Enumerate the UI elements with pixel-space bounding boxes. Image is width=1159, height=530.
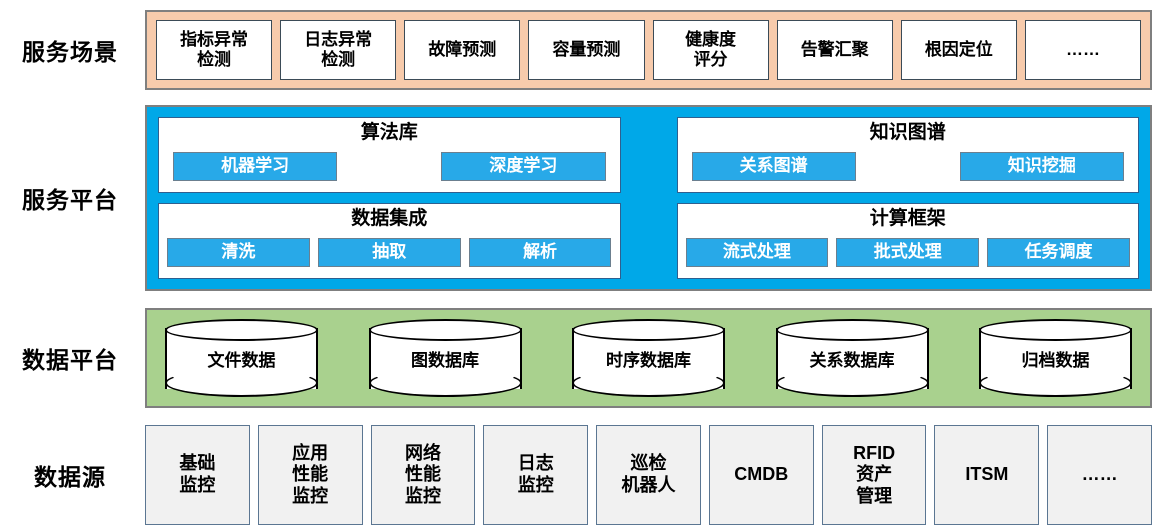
- scenario-box[interactable]: 故障预测: [404, 20, 520, 80]
- scenario-box[interactable]: 日志异常 检测: [280, 20, 396, 80]
- scenario-box-list: 指标异常 检测 日志异常 检测 故障预测 容量预测 健康度 评分 告警汇聚 根因…: [147, 12, 1150, 88]
- architecture-diagram: 服务场景 指标异常 检测 日志异常 检测 故障预测 容量预测 健康度 评分 告警…: [0, 0, 1159, 530]
- datastore-cylinder[interactable]: 文件数据: [165, 319, 318, 397]
- datastore-cylinder[interactable]: 时序数据库: [572, 319, 725, 397]
- datastore-list: 文件数据 图数据库 时序数据库 关系数据库: [147, 310, 1150, 406]
- source-box-itsm[interactable]: ITSM: [934, 425, 1039, 525]
- module-data-integration[interactable]: 数据集成 清洗 抽取 解析: [158, 203, 621, 279]
- source-box-basic-monitoring[interactable]: 基础 监控: [145, 425, 250, 525]
- platform-module-grid: 算法库 机器学习 深度学习 知识图谱 关系图谱 知识挖掘: [147, 107, 1150, 289]
- platform-module-row-top: 算法库 机器学习 深度学习 知识图谱 关系图谱 知识挖掘: [158, 117, 1139, 193]
- chip-relation-graph[interactable]: 关系图谱: [692, 152, 856, 181]
- datastore-label: 关系数据库: [776, 319, 929, 397]
- source-box-network-performance[interactable]: 网络 性能 监控: [371, 425, 476, 525]
- chip-parsing[interactable]: 解析: [469, 238, 612, 267]
- band-service-scenario: 指标异常 检测 日志异常 检测 故障预测 容量预测 健康度 评分 告警汇聚 根因…: [145, 10, 1152, 90]
- row-label-service-scenario: 服务场景: [0, 10, 140, 90]
- module-title: 计算框架: [870, 209, 946, 230]
- chip-stream-processing[interactable]: 流式处理: [686, 238, 829, 267]
- band-data-platform: 文件数据 图数据库 时序数据库 关系数据库: [145, 308, 1152, 408]
- source-box-app-performance[interactable]: 应用 性能 监控: [258, 425, 363, 525]
- row-label-data-source: 数据源: [0, 425, 140, 525]
- module-knowledge-graph[interactable]: 知识图谱 关系图谱 知识挖掘: [677, 117, 1140, 193]
- datastore-label: 文件数据: [165, 319, 318, 397]
- scenario-box[interactable]: 告警汇聚: [777, 20, 893, 80]
- source-box-inspection-robot[interactable]: 巡检 机器人: [596, 425, 701, 525]
- chip-list: 机器学习 深度学习: [167, 149, 612, 184]
- source-box-rfid-asset[interactable]: RFID 资产 管理: [822, 425, 927, 525]
- module-algorithm-library[interactable]: 算法库 机器学习 深度学习: [158, 117, 621, 193]
- datastore-label: 时序数据库: [572, 319, 725, 397]
- module-title: 数据集成: [351, 209, 427, 230]
- module-compute-framework[interactable]: 计算框架 流式处理 批式处理 任务调度: [677, 203, 1140, 279]
- source-box-cmdb[interactable]: CMDB: [709, 425, 814, 525]
- chip-list: 关系图谱 知识挖掘: [686, 149, 1131, 184]
- datastore-label: 归档数据: [979, 319, 1132, 397]
- module-title: 知识图谱: [870, 123, 946, 144]
- module-title: 算法库: [361, 123, 418, 144]
- scenario-box[interactable]: 容量预测: [528, 20, 644, 80]
- chip-extraction[interactable]: 抽取: [318, 238, 461, 267]
- band-service-platform: 算法库 机器学习 深度学习 知识图谱 关系图谱 知识挖掘: [145, 105, 1152, 291]
- scenario-box-ellipsis[interactable]: ……: [1025, 20, 1141, 80]
- scenario-box[interactable]: 健康度 评分: [653, 20, 769, 80]
- datastore-cylinder[interactable]: 归档数据: [979, 319, 1132, 397]
- datastore-cylinder[interactable]: 图数据库: [369, 319, 522, 397]
- chip-deep-learning[interactable]: 深度学习: [441, 152, 605, 181]
- chip-list: 流式处理 批式处理 任务调度: [686, 235, 1131, 270]
- datastore-cylinder[interactable]: 关系数据库: [776, 319, 929, 397]
- platform-module-row-bottom: 数据集成 清洗 抽取 解析 计算框架 流式处理 批式处理 任务调度: [158, 203, 1139, 279]
- datastore-label: 图数据库: [369, 319, 522, 397]
- chip-machine-learning[interactable]: 机器学习: [173, 152, 337, 181]
- source-box-log-monitoring[interactable]: 日志 监控: [483, 425, 588, 525]
- data-source-list: 基础 监控 应用 性能 监控 网络 性能 监控 日志 监控 巡检 机器人 CMD…: [145, 425, 1152, 525]
- chip-cleaning[interactable]: 清洗: [167, 238, 310, 267]
- row-label-service-platform: 服务平台: [0, 105, 140, 291]
- scenario-box[interactable]: 根因定位: [901, 20, 1017, 80]
- row-label-data-platform: 数据平台: [0, 308, 140, 408]
- chip-knowledge-mining[interactable]: 知识挖掘: [960, 152, 1124, 181]
- source-box-ellipsis[interactable]: ……: [1047, 425, 1152, 525]
- chip-task-scheduling[interactable]: 任务调度: [987, 238, 1130, 267]
- chip-batch-processing[interactable]: 批式处理: [836, 238, 979, 267]
- scenario-box[interactable]: 指标异常 检测: [156, 20, 272, 80]
- chip-list: 清洗 抽取 解析: [167, 235, 612, 270]
